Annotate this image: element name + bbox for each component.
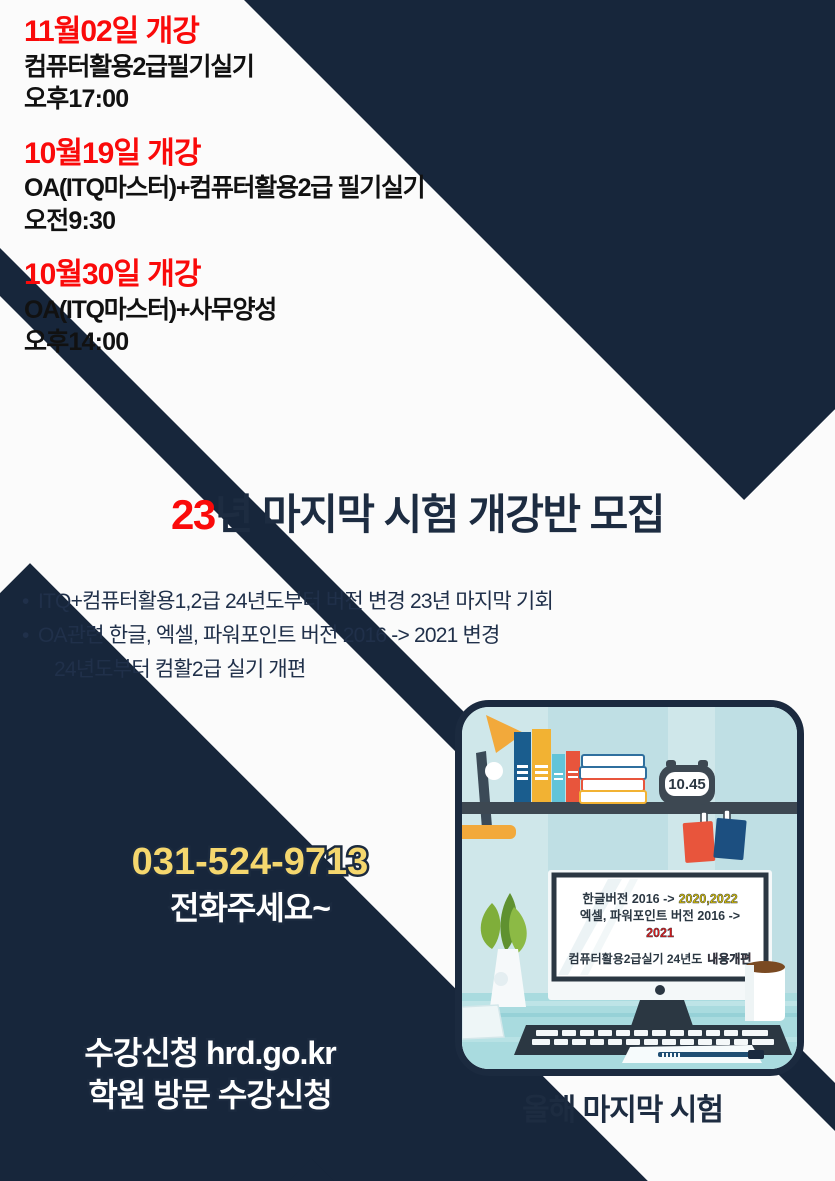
stacked-book-2 bbox=[580, 767, 646, 779]
schedule-course-name: OA(ITQ마스터)+사무양성 bbox=[24, 294, 664, 327]
schedule-start-date: 11월02일 개강 bbox=[24, 14, 664, 51]
monitor-power-dot bbox=[655, 985, 665, 995]
schedule-class-time: 오전9:30 bbox=[24, 205, 664, 238]
page-title: 23년 마지막 시험 개강반 모집 bbox=[0, 481, 835, 542]
clock-bell-right bbox=[698, 760, 708, 768]
list-item: • OA관련 한글, 엑셀, 파워포인트 버전 2016 -> 2021 변경 bbox=[22, 619, 662, 653]
pen-cap bbox=[748, 1050, 764, 1059]
note-blue bbox=[713, 818, 746, 860]
schedule-item: 10월30일 개강 OA(ITQ마스터)+사무양성 오후14:00 bbox=[24, 257, 664, 359]
coffee-cup-icon bbox=[745, 961, 785, 1021]
list-item-label: ITQ+컴퓨터활용1,2급 24년도부터 버전 변경 23년 마지막 기회 bbox=[38, 585, 553, 619]
headline-rest: 년 마지막 시험 개강반 모집 bbox=[215, 491, 664, 538]
clock-readout: 10.45 bbox=[668, 776, 706, 793]
lamp-base bbox=[462, 825, 516, 839]
screen-line-4: 컴퓨터활용2급실기 24년도내용개편 bbox=[569, 951, 752, 966]
schedule-course-name: 컴퓨터활용2급필기실기 bbox=[24, 51, 664, 84]
schedule-class-time: 오후17:00 bbox=[24, 83, 664, 116]
book-stack bbox=[580, 755, 646, 803]
desk-scene-svg: 10.45 bbox=[462, 707, 797, 1069]
pen-body bbox=[658, 1052, 762, 1057]
monitor-stand bbox=[630, 1000, 694, 1029]
screen-line-3: 2021 bbox=[646, 926, 674, 940]
stacked-book-3 bbox=[582, 779, 644, 791]
phone-call-to-action: 전화주세요~ bbox=[60, 888, 440, 928]
bullet-dot-icon: • bbox=[22, 585, 38, 619]
diagonal-band-bottom-right bbox=[29, 1159, 665, 1181]
vase-highlight bbox=[494, 972, 508, 986]
poster-canvas: 11월02일 개강 컴퓨터활용2급필기실기 오후17:00 10월19일 개강 … bbox=[0, 0, 835, 1181]
contact-block: 031-524-9713 전화주세요~ bbox=[60, 840, 440, 928]
list-item: • ITQ+컴퓨터활용1,2급 24년도부터 버전 변경 23년 마지막 기회 bbox=[22, 585, 662, 619]
bullet-dot-icon: • bbox=[22, 619, 38, 653]
schedule-class-time: 오후14:00 bbox=[24, 326, 664, 359]
notice-bullet-list: • ITQ+컴퓨터활용1,2급 24년도부터 버전 변경 23년 마지막 기회 … bbox=[22, 585, 662, 687]
headline-year: 23 bbox=[171, 491, 215, 538]
schedule-start-date: 10월30일 개강 bbox=[24, 257, 664, 294]
enrollment-visit-note: 학원 방문 수강신청 bbox=[10, 1074, 410, 1116]
enrollment-block: 수강신청 hrd.go.kr 학원 방문 수강신청 bbox=[10, 1032, 410, 1116]
list-item-label: OA관련 한글, 엑셀, 파워포인트 버전 2016 -> 2021 변경 bbox=[38, 619, 500, 653]
paper-and-pen bbox=[622, 1045, 764, 1063]
schedule-start-date: 10월19일 개강 bbox=[24, 136, 664, 173]
screen-line-2: 엑셀, 파워포인트 버전 2016 -> bbox=[580, 908, 740, 923]
paper-left bbox=[462, 1005, 504, 1039]
stacked-book-1 bbox=[582, 755, 644, 767]
alarm-clock-icon: 10.45 bbox=[659, 760, 715, 805]
note-red bbox=[683, 821, 716, 863]
illustration-caption: 올해 마지막 시험 bbox=[455, 1085, 790, 1129]
course-schedule-list: 11월02일 개강 컴퓨터활용2급필기실기 오후17:00 10월19일 개강 … bbox=[24, 14, 664, 379]
schedule-course-name: OA(ITQ마스터)+컴퓨터활용2급 필기실기 bbox=[24, 172, 664, 205]
desk-illustration-card: 10.45 bbox=[455, 700, 804, 1076]
screen-line-1: 한글버전 2016 ->2020,2022 bbox=[582, 891, 737, 906]
schedule-item: 11월02일 개강 컴퓨터활용2급필기실기 오후17:00 bbox=[24, 14, 664, 116]
list-item-label: 24년도부터 컴활2급 실기 개편 bbox=[54, 653, 305, 687]
enrollment-website[interactable]: 수강신청 hrd.go.kr bbox=[10, 1032, 410, 1074]
cup-shadow bbox=[745, 965, 754, 1021]
phone-number[interactable]: 031-524-9713 bbox=[60, 840, 440, 886]
clock-bell-left bbox=[666, 760, 676, 768]
stacked-book-4 bbox=[580, 791, 646, 803]
schedule-item: 10월19일 개강 OA(ITQ마스터)+컴퓨터활용2급 필기실기 오전9:30 bbox=[24, 136, 664, 238]
lamp-glow bbox=[485, 762, 503, 780]
list-item: 24년도부터 컴활2급 실기 개편 bbox=[22, 653, 662, 687]
